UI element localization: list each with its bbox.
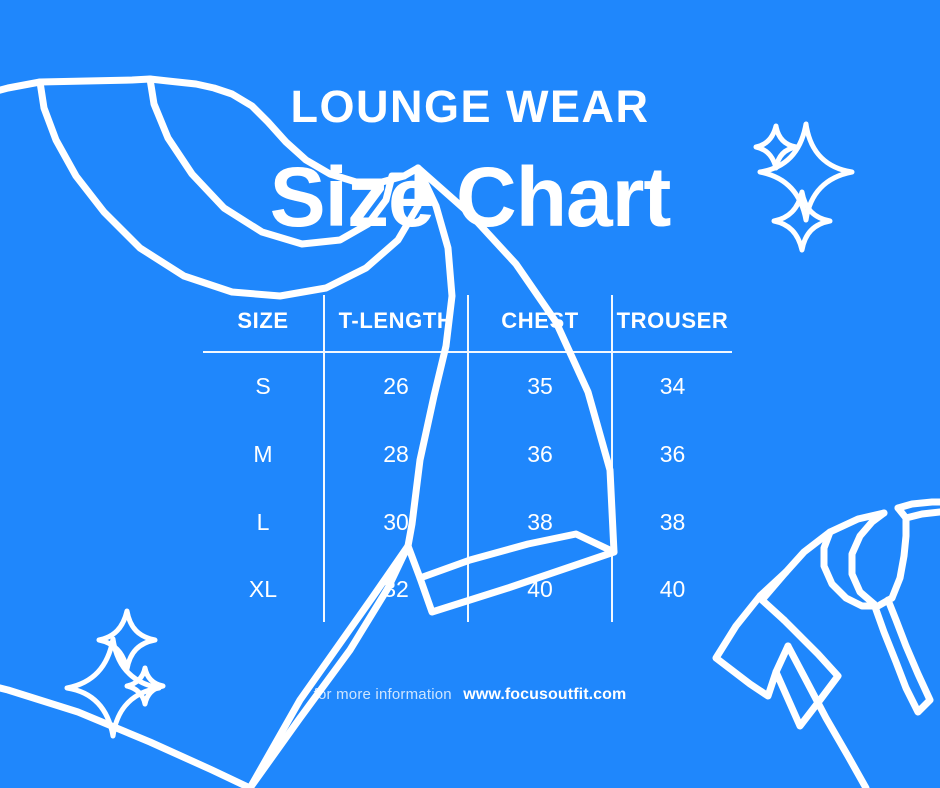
- cell-chest: 35: [468, 352, 612, 420]
- table-header-row: SIZE T-LENGTH CHEST TROUSER: [203, 295, 732, 352]
- page-title: Size Chart: [0, 148, 940, 246]
- table-row: XL 32 40 40: [203, 556, 732, 622]
- sparkle-cluster-icon: [67, 611, 163, 736]
- table-body: S 26 35 34 M 28 36 36 L 30 38 38: [203, 352, 732, 622]
- cell-size: XL: [203, 556, 324, 622]
- cell-chest: 36: [468, 420, 612, 488]
- footer: for more information www.focusoutfit.com: [0, 686, 940, 704]
- table-row: S 26 35 34: [203, 352, 732, 420]
- cell-t-length: 26: [324, 352, 468, 420]
- size-chart-table: SIZE T-LENGTH CHEST TROUSER S 26 35 34 M…: [203, 295, 732, 622]
- cell-t-length: 30: [324, 488, 468, 556]
- cell-trouser: 36: [612, 420, 732, 488]
- column-header-chest: CHEST: [468, 295, 612, 352]
- eyebrow-heading: LOUNGE WEAR: [0, 79, 940, 134]
- column-header-size: SIZE: [203, 295, 324, 352]
- table-row: M 28 36 36: [203, 420, 732, 488]
- cell-trouser: 34: [612, 352, 732, 420]
- cell-size: M: [203, 420, 324, 488]
- table-row: L 30 38 38: [203, 488, 732, 556]
- table-header: SIZE T-LENGTH CHEST TROUSER: [203, 295, 732, 352]
- size-chart-poster: LOUNGE WEAR Size Chart SIZE T-LENGTH CHE…: [0, 0, 940, 788]
- size-table-wrapper: SIZE T-LENGTH CHEST TROUSER S 26 35 34 M…: [203, 295, 732, 620]
- cell-t-length: 28: [324, 420, 468, 488]
- cell-chest: 38: [468, 488, 612, 556]
- cell-chest: 40: [468, 556, 612, 622]
- cell-trouser: 38: [612, 488, 732, 556]
- cell-size: S: [203, 352, 324, 420]
- footer-website[interactable]: www.focusoutfit.com: [463, 686, 626, 703]
- cell-size: L: [203, 488, 324, 556]
- column-header-trouser: TROUSER: [612, 295, 732, 352]
- footer-note: for more information: [314, 686, 452, 703]
- polo-shirt-outline-icon: [716, 502, 940, 788]
- cell-t-length: 32: [324, 556, 468, 622]
- column-header-t-length: T-LENGTH: [324, 295, 468, 352]
- cell-trouser: 40: [612, 556, 732, 622]
